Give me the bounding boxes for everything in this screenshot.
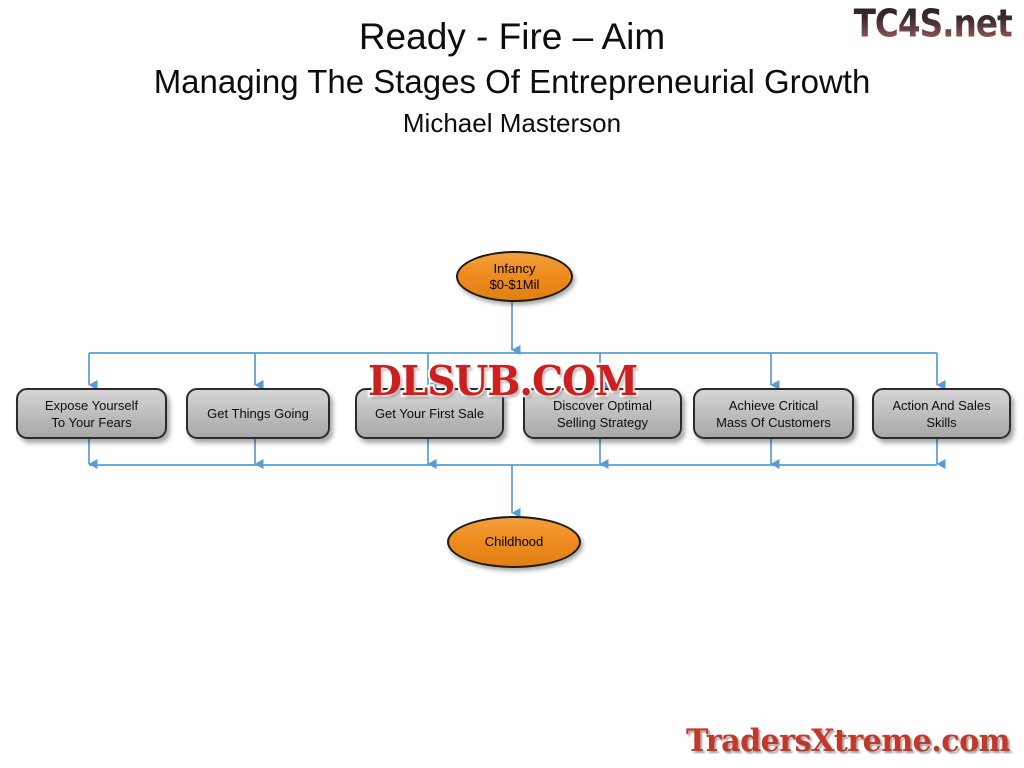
node-stage-6-line-1: Action And Sales [892, 397, 990, 414]
node-childhood[interactable]: Childhood [447, 516, 581, 568]
node-stage-1[interactable]: Expose Yourself To Your Fears [16, 388, 167, 439]
node-stage-2-line-1: Get Things Going [207, 405, 309, 422]
node-stage-5[interactable]: Achieve Critical Mass Of Customers [693, 388, 854, 439]
node-stage-6-line-2: Skills [926, 414, 956, 431]
node-stage-3-line-1: Get Your First Sale [375, 405, 484, 422]
node-infancy-line-1: Infancy [494, 261, 536, 277]
node-stage-5-line-2: Mass Of Customers [716, 414, 831, 431]
node-stage-2[interactable]: Get Things Going [186, 388, 330, 439]
node-stage-4-line-2: Selling Strategy [557, 414, 648, 431]
node-infancy-line-2: $0-$1Mil [490, 277, 540, 293]
node-infancy[interactable]: Infancy $0-$1Mil [456, 251, 573, 302]
node-stage-1-line-2: To Your Fears [51, 414, 131, 431]
node-childhood-line-1: Childhood [485, 534, 544, 550]
node-stage-6[interactable]: Action And Sales Skills [872, 388, 1011, 439]
watermark-dlsub: DLSUB.COM [368, 358, 637, 404]
node-stage-5-line-1: Achieve Critical [729, 397, 819, 414]
node-stage-1-line-1: Expose Yourself [45, 397, 138, 414]
